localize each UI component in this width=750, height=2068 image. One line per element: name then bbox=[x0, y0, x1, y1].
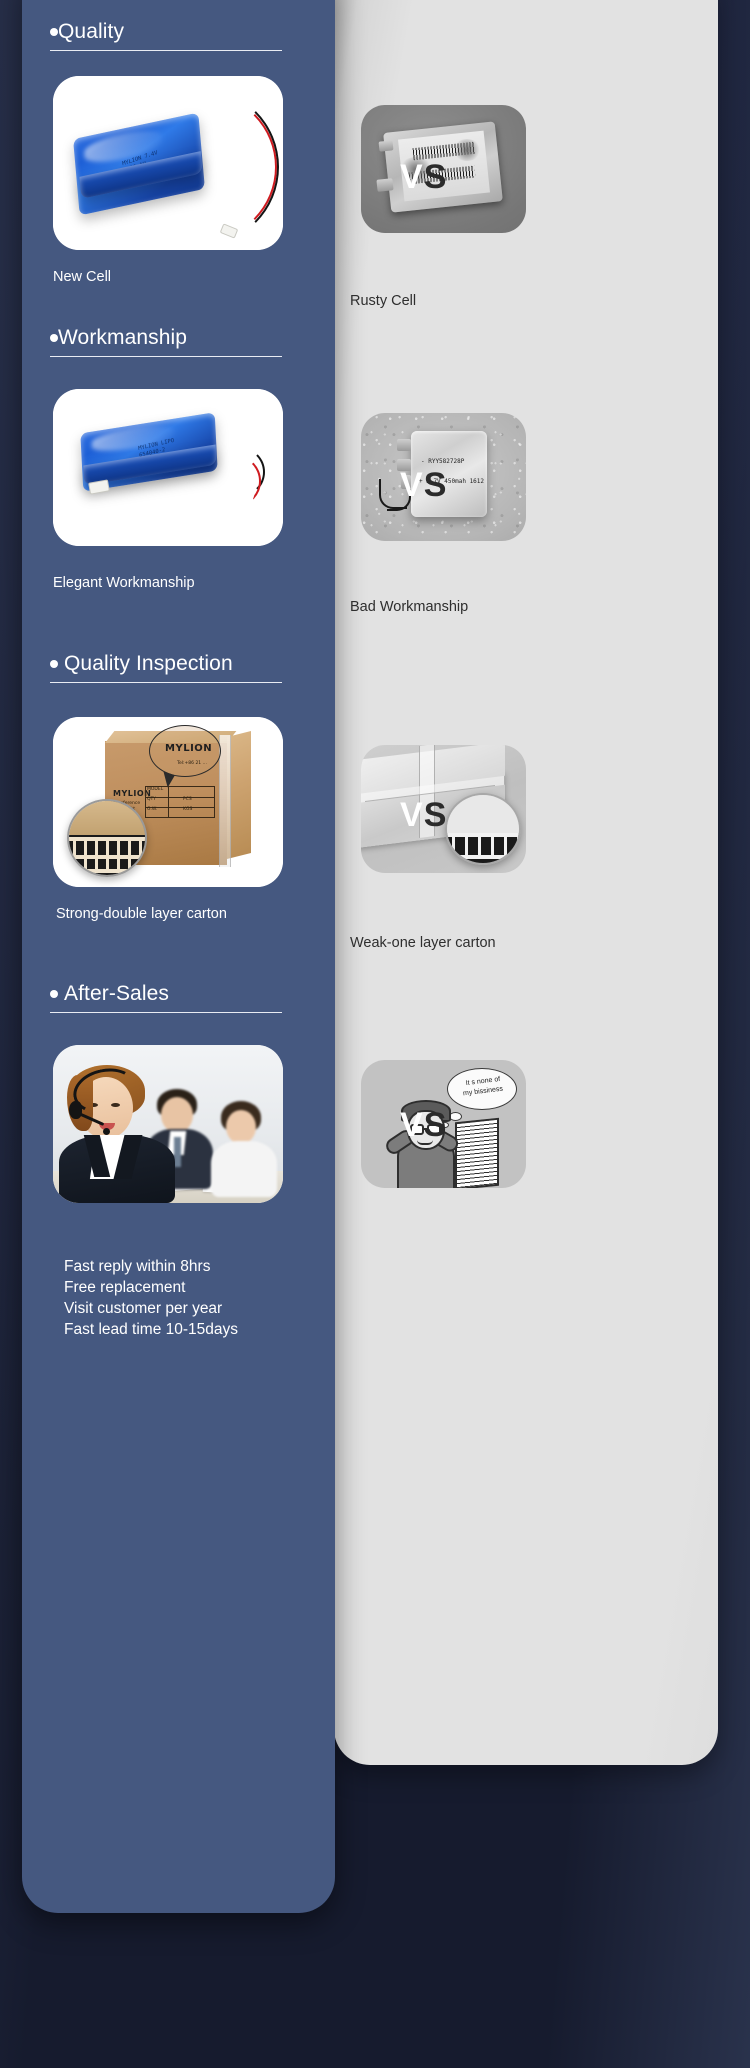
bullet-icon bbox=[50, 990, 58, 998]
vs-s: S bbox=[424, 1106, 448, 1144]
vs-label-after-sales: VS bbox=[400, 1108, 447, 1142]
quality-bad-caption: Rusty Cell bbox=[350, 293, 416, 309]
bullet-icon bbox=[50, 334, 58, 342]
after-sales-benefits-list: Fast reply within 8hrs Free replacement … bbox=[64, 1256, 238, 1340]
workmanship-bad-caption: Bad Workmanship bbox=[350, 599, 468, 615]
section-after-sales-header: After-Sales bbox=[50, 982, 307, 1006]
section-quality-inspection-header: Quality Inspection bbox=[50, 652, 307, 676]
benefit-item: Visit customer per year bbox=[64, 1298, 238, 1319]
benefit-item: Fast reply within 8hrs bbox=[64, 1256, 238, 1277]
vs-label-workmanship: VS bbox=[400, 468, 447, 502]
vs-v: V bbox=[400, 466, 424, 504]
comparison-bad-panel bbox=[334, 0, 718, 1765]
vs-s: S bbox=[424, 796, 448, 834]
section-quality-title: Quality bbox=[58, 20, 124, 44]
workmanship-good-caption: Elegant Workmanship bbox=[53, 575, 195, 591]
quality-inspection-bad-caption: Weak-one layer carton bbox=[350, 935, 496, 951]
section-quality-divider bbox=[50, 50, 282, 51]
comparison-good-panel: Quality MYLION 7.4V2600mAHLipo 105573 Ne… bbox=[22, 0, 335, 1913]
section-quality-inspection-divider bbox=[50, 682, 282, 683]
after-sales-good-image bbox=[53, 1045, 283, 1203]
section-workmanship-divider bbox=[50, 356, 282, 357]
weak-corrugation-magnifier bbox=[445, 793, 521, 865]
section-after-sales-divider bbox=[50, 1012, 282, 1013]
new-cell-photo: MYLION 7.4V2600mAHLipo 105573 bbox=[53, 76, 283, 250]
section-after-sales: After-Sales bbox=[22, 982, 335, 1013]
vs-label-quality-inspection: VS bbox=[400, 798, 447, 832]
quality-good-caption: New Cell bbox=[53, 269, 111, 285]
vs-v: V bbox=[400, 1106, 424, 1144]
elegant-workmanship-photo: MYLION LIPO654040-23.7V 2600mAh bbox=[53, 389, 283, 546]
benefit-item: Free replacement bbox=[64, 1277, 238, 1298]
double-layer-carton-photo: MYLION Tel:+86 21 ... MYLION MODEL QTY P… bbox=[53, 717, 283, 887]
vs-s: S bbox=[424, 158, 448, 196]
workmanship-good-image: MYLION LIPO654040-23.7V 2600mAh bbox=[53, 389, 283, 546]
section-workmanship-title: Workmanship bbox=[58, 326, 187, 350]
vs-v: V bbox=[400, 796, 424, 834]
benefit-item: Fast lead time 10-15days bbox=[64, 1319, 238, 1340]
background-colleague-female bbox=[211, 1101, 277, 1191]
vs-v: V bbox=[400, 158, 424, 196]
section-quality-inspection: Quality Inspection bbox=[22, 652, 335, 683]
quality-inspection-good-image: MYLION Tel:+86 21 ... MYLION MODEL QTY P… bbox=[53, 717, 283, 887]
vs-label-quality: VS bbox=[400, 160, 447, 194]
section-after-sales-title: After-Sales bbox=[64, 982, 169, 1006]
section-quality-header: Quality bbox=[50, 20, 307, 44]
corrugation-magnifier bbox=[67, 799, 147, 877]
bullet-icon bbox=[50, 28, 58, 36]
section-workmanship-header: Workmanship bbox=[50, 326, 307, 350]
quality-good-image: MYLION 7.4V2600mAHLipo 105573 bbox=[53, 76, 283, 250]
customer-support-team-photo bbox=[53, 1045, 283, 1203]
vs-s: S bbox=[424, 466, 448, 504]
bullet-icon bbox=[50, 660, 58, 668]
support-agent bbox=[59, 1065, 175, 1203]
quality-inspection-good-caption: Strong-double layer carton bbox=[56, 906, 227, 922]
section-quality-inspection-title: Quality Inspection bbox=[64, 652, 233, 676]
section-quality: Quality bbox=[22, 20, 335, 51]
section-workmanship: Workmanship bbox=[22, 326, 335, 357]
